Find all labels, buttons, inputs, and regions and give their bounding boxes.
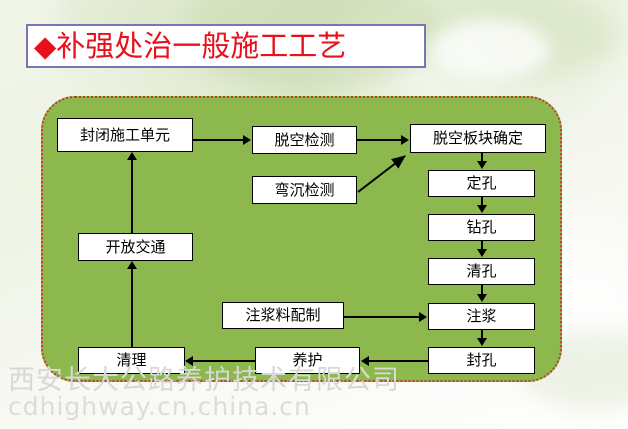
slide-canvas: ◆补强处治一般施工工艺 封闭施工单元 脱空检测 弯沉检测 脱空板块确定 定孔 钻… [0, 0, 628, 429]
background-texture-blob [430, 20, 550, 80]
edge-open-traffic-to-seal-unit [131, 160, 133, 234]
arrowhead-right [243, 135, 251, 145]
node-open-traffic[interactable]: 开放交通 [78, 233, 193, 261]
arrowhead-down [477, 294, 487, 302]
edge-seal-unit-to-void-detect [193, 139, 244, 141]
edge-grout-mix-to-grouting [344, 316, 420, 318]
node-drill-hole[interactable]: 钻孔 [428, 214, 535, 241]
background-texture-blob [400, 0, 620, 80]
edge-void-detect-to-void-slab [357, 139, 402, 141]
arrowhead-right [419, 312, 427, 322]
node-grout-mix[interactable]: 注浆料配制 [222, 302, 344, 329]
arrowhead-up [127, 152, 137, 160]
arrowhead-up [127, 261, 137, 269]
node-void-slab-confirm[interactable]: 脱空板块确定 [410, 124, 546, 153]
watermark-url: cdhighway.cn.china.cn [8, 392, 311, 421]
node-seal-unit[interactable]: 封闭施工单元 [57, 118, 193, 152]
arrowhead-right [401, 135, 409, 145]
page-title: ◆补强处治一般施工工艺 [28, 32, 346, 61]
edge-cleanup-to-open-traffic [131, 269, 133, 348]
node-grouting[interactable]: 注浆 [428, 303, 535, 330]
node-void-detect[interactable]: 脱空检测 [252, 126, 357, 154]
slide-title-box: ◆补强处治一般施工工艺 [26, 24, 426, 68]
node-clean-hole[interactable]: 清孔 [428, 258, 535, 285]
node-seal-hole[interactable]: 封孔 [428, 347, 535, 374]
arrowhead-down [477, 161, 487, 169]
arrowhead-down [477, 338, 487, 346]
node-deflection-test[interactable]: 弯沉检测 [252, 176, 357, 204]
arrowhead-down [477, 205, 487, 213]
node-locate-hole[interactable]: 定孔 [428, 170, 535, 197]
arrowhead-down [477, 249, 487, 257]
